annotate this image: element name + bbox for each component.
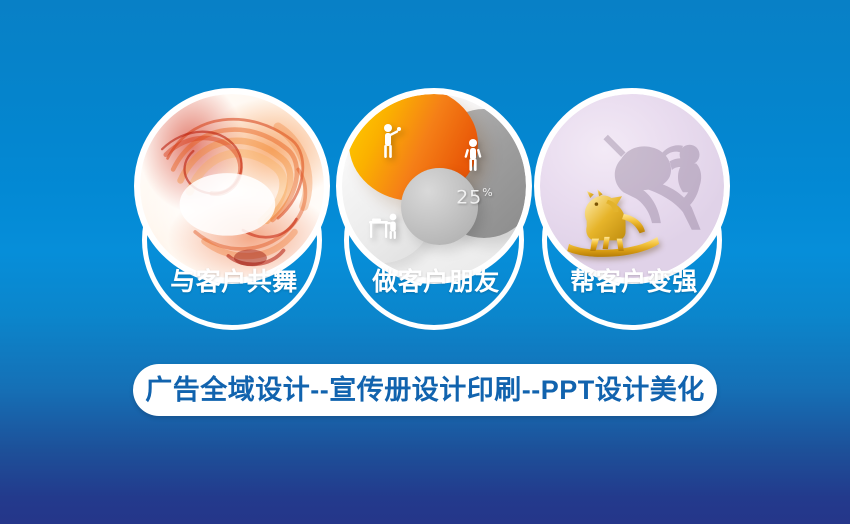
poster-canvas: 与客户共舞 bbox=[0, 0, 850, 524]
rocking-horse-toy-icon bbox=[558, 175, 668, 263]
stat-percentage: 25% bbox=[456, 186, 494, 208]
feature-label-1: 与客户共舞 bbox=[134, 270, 334, 295]
artwork-golden-rocking-horse bbox=[540, 94, 724, 278]
bottom-banner-text: 广告全域设计--宣传册设计印刷--PPT设计美化 bbox=[145, 377, 704, 404]
person-standing-icon bbox=[463, 138, 483, 172]
feature-item-2[interactable]: 25% 做客户朋友 bbox=[336, 88, 536, 338]
bottom-banner[interactable]: 广告全域设计--宣传册设计印刷--PPT设计美化 bbox=[133, 364, 717, 416]
photo-circle-1 bbox=[134, 88, 330, 284]
stat-value: 25 bbox=[456, 186, 482, 208]
stat-unit: % bbox=[482, 186, 493, 199]
person-presenter-icon bbox=[379, 123, 401, 159]
feature-item-1[interactable]: 与客户共舞 bbox=[134, 88, 334, 338]
artwork-infographic-blobs: 25% bbox=[342, 94, 526, 278]
artwork-orange-smoke-swirl bbox=[140, 94, 324, 278]
photo-circle-2: 25% bbox=[336, 88, 532, 284]
feature-label-2: 做客户朋友 bbox=[336, 270, 536, 295]
photo-circle-3 bbox=[534, 88, 730, 284]
person-at-desk-icon bbox=[368, 212, 404, 240]
feature-group: 与客户共舞 bbox=[0, 0, 850, 350]
feature-label-3: 帮客户变强 bbox=[534, 270, 734, 295]
feature-item-3[interactable]: 帮客户变强 bbox=[534, 88, 734, 338]
